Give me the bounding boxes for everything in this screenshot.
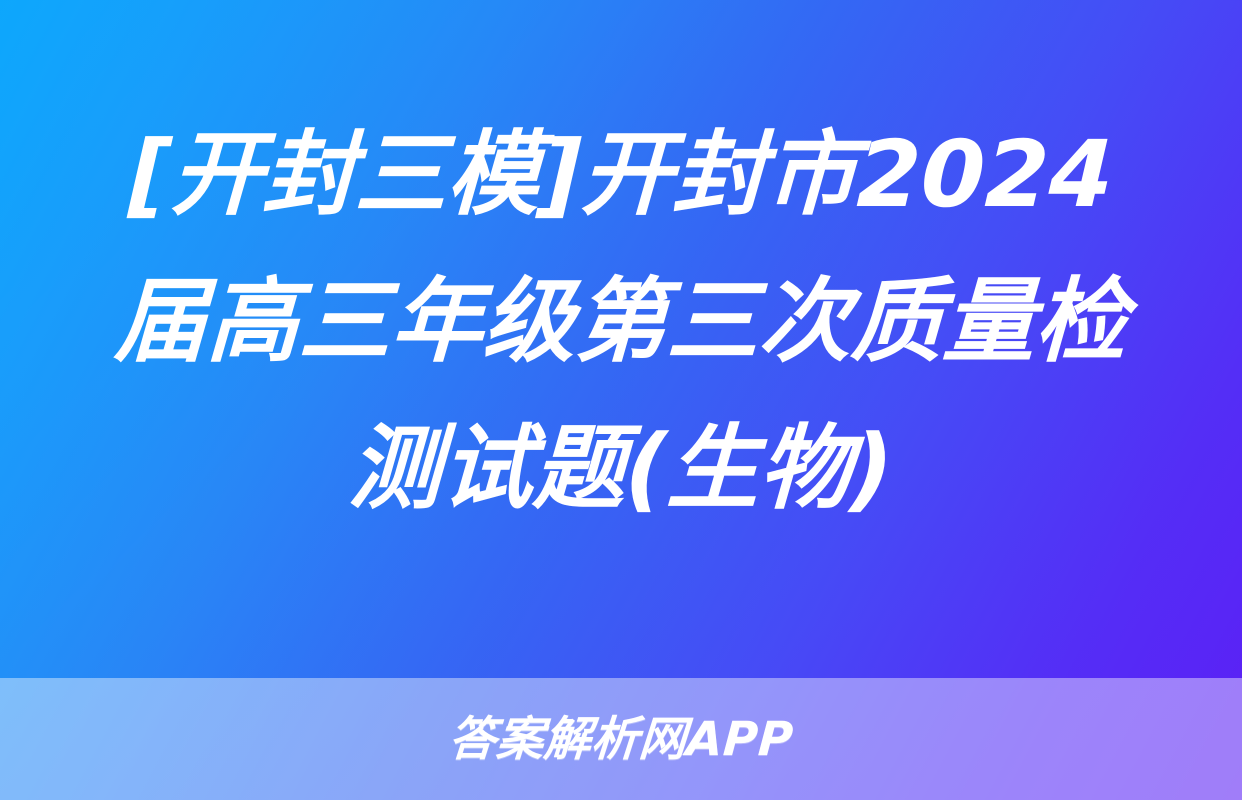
- watermark-band: 答案解析网APP: [0, 678, 1242, 800]
- title-block: [开封三模]开封市2024 届高三年级第三次质量检 测试题(生物): [0, 0, 1242, 678]
- cover-card: [开封三模]开封市2024 届高三年级第三次质量检 测试题(生物) 答案解析网A…: [0, 0, 1242, 800]
- watermark-label: 答案解析网APP: [447, 716, 795, 763]
- title-line-3: 测试题(生物): [346, 395, 895, 542]
- title-line-1: [开封三模]开封市2024: [126, 101, 1115, 248]
- title-line-2: 届高三年级第三次质量检: [112, 248, 1129, 395]
